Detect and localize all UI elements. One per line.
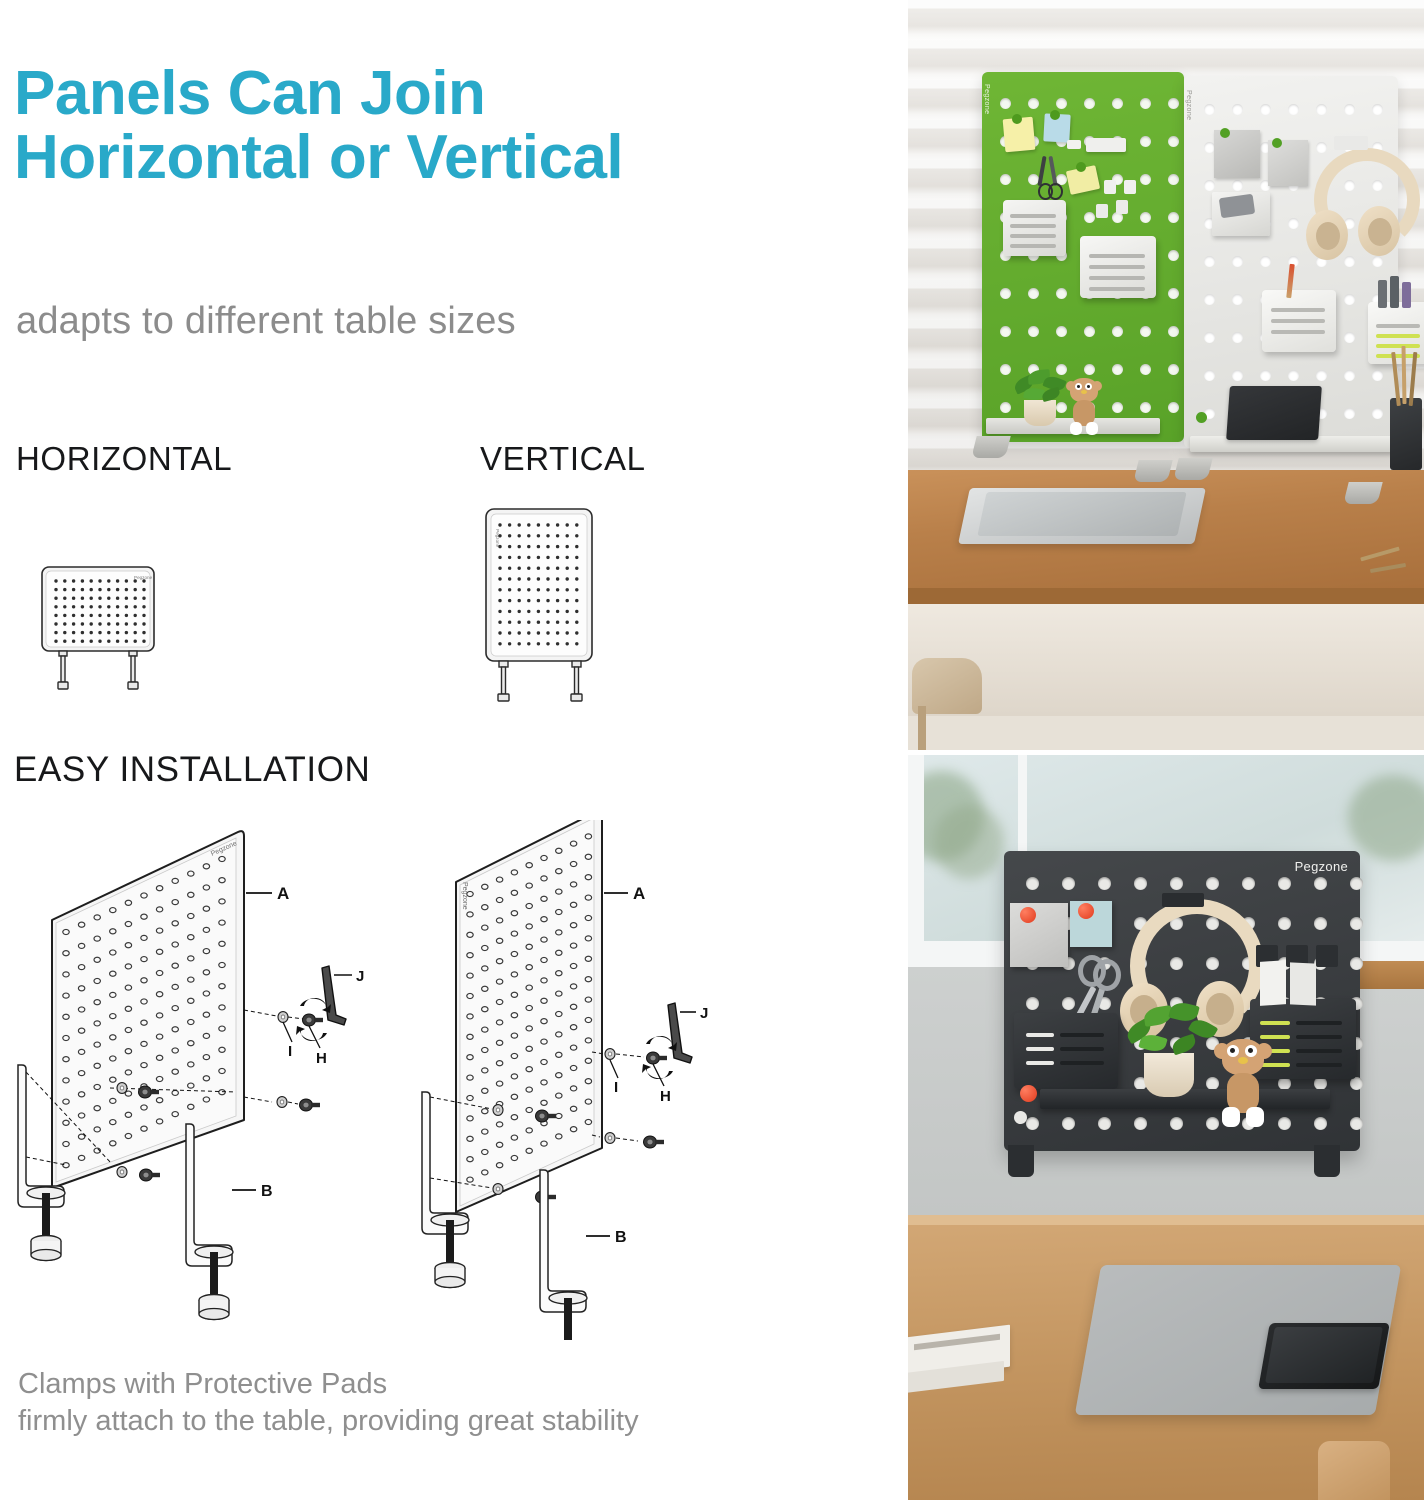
caption-line-2: firmly attach to the table, providing gr…: [18, 1403, 878, 1440]
peg-pin-white-2: [1272, 138, 1282, 148]
pencil-cup: [1390, 398, 1422, 470]
exploded-right-svg: Pegzone A J I H: [400, 820, 840, 1340]
part-label-I: I: [614, 1079, 618, 1096]
pin-red-1: [1020, 907, 1036, 923]
svg-text:Pegzone: Pegzone: [134, 575, 153, 580]
infographic-left-column: Panels Can Join Horizontal or Vertical a…: [0, 0, 908, 1500]
photo-column: Pegzone Pegzone: [908, 0, 1424, 1500]
side-wall: [908, 967, 1012, 1239]
markers-in-basket: [1378, 276, 1418, 308]
basket-green-right: [1080, 236, 1156, 298]
photo-black-panel: Pegzone: [908, 755, 1424, 1500]
headline-line-2: Horizontal or Vertical: [14, 126, 874, 190]
installation-heading: EASY INSTALLATION: [14, 750, 370, 790]
part-label-A: A: [633, 884, 645, 903]
peg-pin-green-1: [1012, 114, 1022, 124]
part-label-A: A: [277, 884, 289, 903]
orientation-label-horizontal: HORIZONTAL: [16, 440, 232, 478]
pin-white-1: [1014, 1111, 1027, 1124]
brand-label-black: Pegzone: [1295, 859, 1348, 874]
svg-text:Pegzone: Pegzone: [495, 529, 500, 548]
tablet-on-shelf: [1226, 386, 1322, 440]
bear-figurine-green: [1064, 378, 1104, 440]
part-label-H: H: [660, 1088, 671, 1105]
photo-card-1: [1214, 130, 1260, 178]
part-label-J: J: [700, 1005, 708, 1022]
subheadline: adapts to different table sizes: [16, 300, 816, 343]
basket-white-left: [1262, 290, 1336, 352]
desk-edge: [908, 588, 1424, 604]
headphone-hook-black: [1162, 893, 1204, 907]
photo-card-black-1: [1010, 903, 1068, 967]
pin-red-3: [1020, 1085, 1037, 1102]
headphones: [1306, 148, 1402, 282]
peg-pin-white-1: [1220, 128, 1230, 138]
panel-foot-left: [1008, 1145, 1034, 1177]
mini-diagram-vertical: Pegzone: [482, 505, 600, 710]
part-label-I: I: [288, 1043, 292, 1060]
brand-label-white: Pegzone: [1185, 90, 1192, 120]
desk-edge-highlight: [908, 1215, 1424, 1225]
caption-line-1: Clamps with Protective Pads: [18, 1366, 878, 1403]
pegboard-hook-5: [1116, 200, 1128, 214]
chair-back: [1318, 1441, 1390, 1500]
pegboard-hook-4: [1096, 204, 1108, 218]
basket-black-left: [1014, 1013, 1118, 1089]
scissors-black-panel: [1076, 955, 1114, 1021]
part-label-J: J: [356, 968, 364, 985]
part-label-B: B: [261, 1183, 273, 1200]
exploded-diagram-vertical: Pegzone A J I H: [400, 820, 840, 1345]
mini-horizontal-svg: Pegzone: [38, 563, 168, 698]
bear-figurine-black: [1212, 1039, 1274, 1137]
pegboard-panel-A-vertical: Pegzone: [456, 820, 602, 1212]
brand-label-green: Pegzone: [983, 84, 990, 114]
mini-diagram-horizontal: Pegzone: [38, 563, 168, 703]
caption-text: Clamps with Protective Pads firmly attac…: [18, 1366, 878, 1439]
pegboard-hook-3: [1124, 180, 1136, 194]
peg-pin-green-2: [1050, 110, 1060, 120]
chair-leg: [918, 706, 926, 750]
pin-red-2: [1078, 903, 1094, 919]
exploded-left-svg: Pegzone A J I H: [0, 820, 440, 1340]
orientation-label-vertical: VERTICAL: [480, 440, 646, 478]
headline-line-1: Panels Can Join: [14, 62, 874, 126]
desk-lower-shadow: [908, 716, 1424, 750]
part-label-H: H: [316, 1050, 327, 1067]
pegboard-panel-A: Pegzone: [52, 831, 244, 1188]
plant-leaves-green: [1012, 368, 1070, 406]
pegboard-hook-1: [1067, 140, 1081, 149]
laptop-screen-edge: [977, 492, 1186, 536]
pegboard-hook-2: [1104, 180, 1116, 194]
scissors: [1038, 156, 1060, 200]
svg-text:Pegzone: Pegzone: [461, 882, 468, 910]
exploded-diagram-horizontal: Pegzone A J I H: [0, 820, 440, 1345]
plant-leaves-black: [1124, 1001, 1218, 1063]
desk-drawer-front: [908, 604, 1424, 716]
photo-two-panels-joined: Pegzone Pegzone: [908, 0, 1424, 750]
window-frame-left-edge: [908, 755, 924, 969]
peg-pin-green-3: [1076, 162, 1086, 172]
basket-green-left: [1003, 200, 1066, 256]
peg-pin-white-3: [1196, 412, 1207, 423]
pegboard-hook-shelf: [1086, 138, 1126, 152]
phone-screen: [1265, 1327, 1383, 1383]
panel-foot-right: [1314, 1145, 1340, 1177]
tree-foliage-2: [934, 805, 1004, 879]
headphone-hanger-hook: [1334, 136, 1368, 150]
papers-in-basket: [1260, 961, 1326, 1005]
part-label-B: B: [615, 1229, 627, 1246]
page-title: Panels Can Join Horizontal or Vertical: [14, 62, 874, 190]
mini-vertical-svg: Pegzone: [482, 505, 600, 705]
